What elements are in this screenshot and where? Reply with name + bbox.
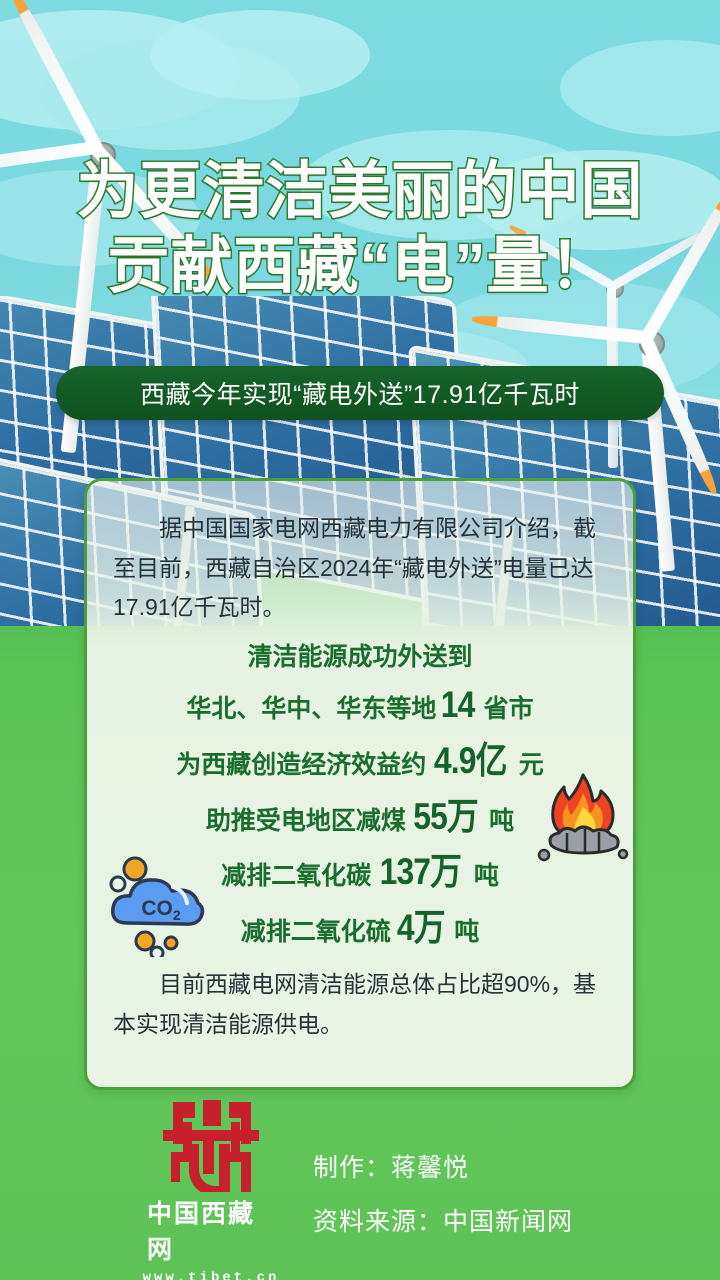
- stat-suffix: 吨: [474, 863, 499, 889]
- stat-prefix: 减排二氧化硫: [241, 919, 391, 945]
- site-logo[interactable]: 中国西藏网 www.tibet.cn: [147, 1100, 275, 1280]
- stat-prefix: 助推受电地区减煤: [206, 808, 406, 834]
- title-line-1: 为更清洁美丽的中国: [0, 160, 720, 223]
- title-line-2: 贡献西藏“电”量！: [0, 235, 720, 298]
- stat-row: 为西藏创造经济效益约 4.9亿 元: [113, 742, 607, 781]
- stat-prefix: 华北、华中、华东等地: [186, 696, 436, 722]
- source-credit: 资料来源：中国新闻网: [313, 1202, 573, 1238]
- intro-paragraph: 据中国国家电网西藏电力有限公司介绍，截至目前，西藏自治区2024年“藏电外送”电…: [113, 509, 607, 628]
- co2-cloud-icon: CO2: [105, 853, 217, 957]
- burning-coal-icon: [537, 771, 629, 863]
- content-card: 据中国国家电网西藏电力有限公司介绍，截至目前，西藏自治区2024年“藏电外送”电…: [84, 478, 636, 1090]
- tibet-seal-icon: [159, 1100, 263, 1192]
- footer: 中国西藏网 www.tibet.cn 制作：蒋馨悦 资料来源：中国新闻网: [0, 1118, 720, 1268]
- stat-value: 4.9亿: [434, 742, 507, 781]
- stat-suffix: 吨: [454, 919, 479, 945]
- stat-row: 助推受电地区减煤 55万 吨: [113, 798, 607, 837]
- stats-heading: 清洁能源成功外送到: [113, 644, 607, 670]
- stat-value: 137万: [380, 853, 461, 892]
- stat-row: 华北、华中、华东等地 14 省市: [113, 686, 607, 725]
- stat-suffix: 吨: [489, 808, 514, 834]
- stat-value: 55万: [413, 798, 478, 837]
- subtitle-banner: 西藏今年实现“藏电外送”17.91亿千瓦时: [56, 366, 664, 420]
- stat-suffix: 省市: [484, 696, 534, 722]
- infographic-poster: 为更清洁美丽的中国 贡献西藏“电”量！ 西藏今年实现“藏电外送”17.91亿千瓦…: [0, 0, 720, 1280]
- stat-value: 14: [441, 686, 475, 725]
- producer-credit: 制作：蒋馨悦: [313, 1148, 573, 1184]
- stat-prefix: 为西藏创造经济效益约: [176, 752, 426, 778]
- credits: 制作：蒋馨悦 资料来源：中国新闻网: [313, 1148, 573, 1238]
- logo-url: www.tibet.cn: [143, 1270, 280, 1280]
- logo-name: 中国西藏网: [147, 1194, 275, 1266]
- closing-paragraph: 目前西藏电网清洁能源总体占比超90%，基本实现清洁能源供电。: [113, 965, 607, 1044]
- stat-prefix: 减排二氧化碳: [221, 863, 371, 889]
- stat-value: 4万: [397, 909, 445, 948]
- poster-title: 为更清洁美丽的中国 贡献西藏“电”量！: [0, 160, 720, 310]
